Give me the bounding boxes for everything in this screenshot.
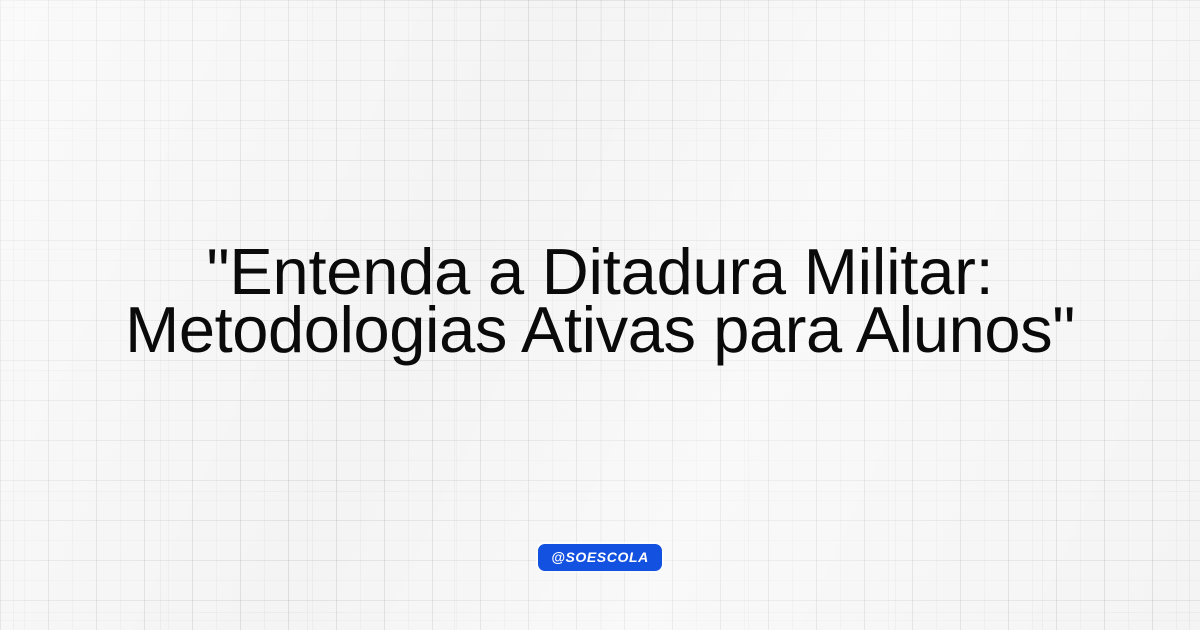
page-title: "Entenda a Ditadura Militar: Metodologia…: [0, 243, 1200, 359]
handle-badge-container: @SOESCOLA: [0, 544, 1200, 571]
social-card-canvas: "Entenda a Ditadura Militar: Metodologia…: [0, 0, 1200, 630]
handle-badge[interactable]: @SOESCOLA: [538, 544, 662, 571]
page-title-line-2: Metodologias Ativas para Alunos": [24, 301, 1176, 359]
